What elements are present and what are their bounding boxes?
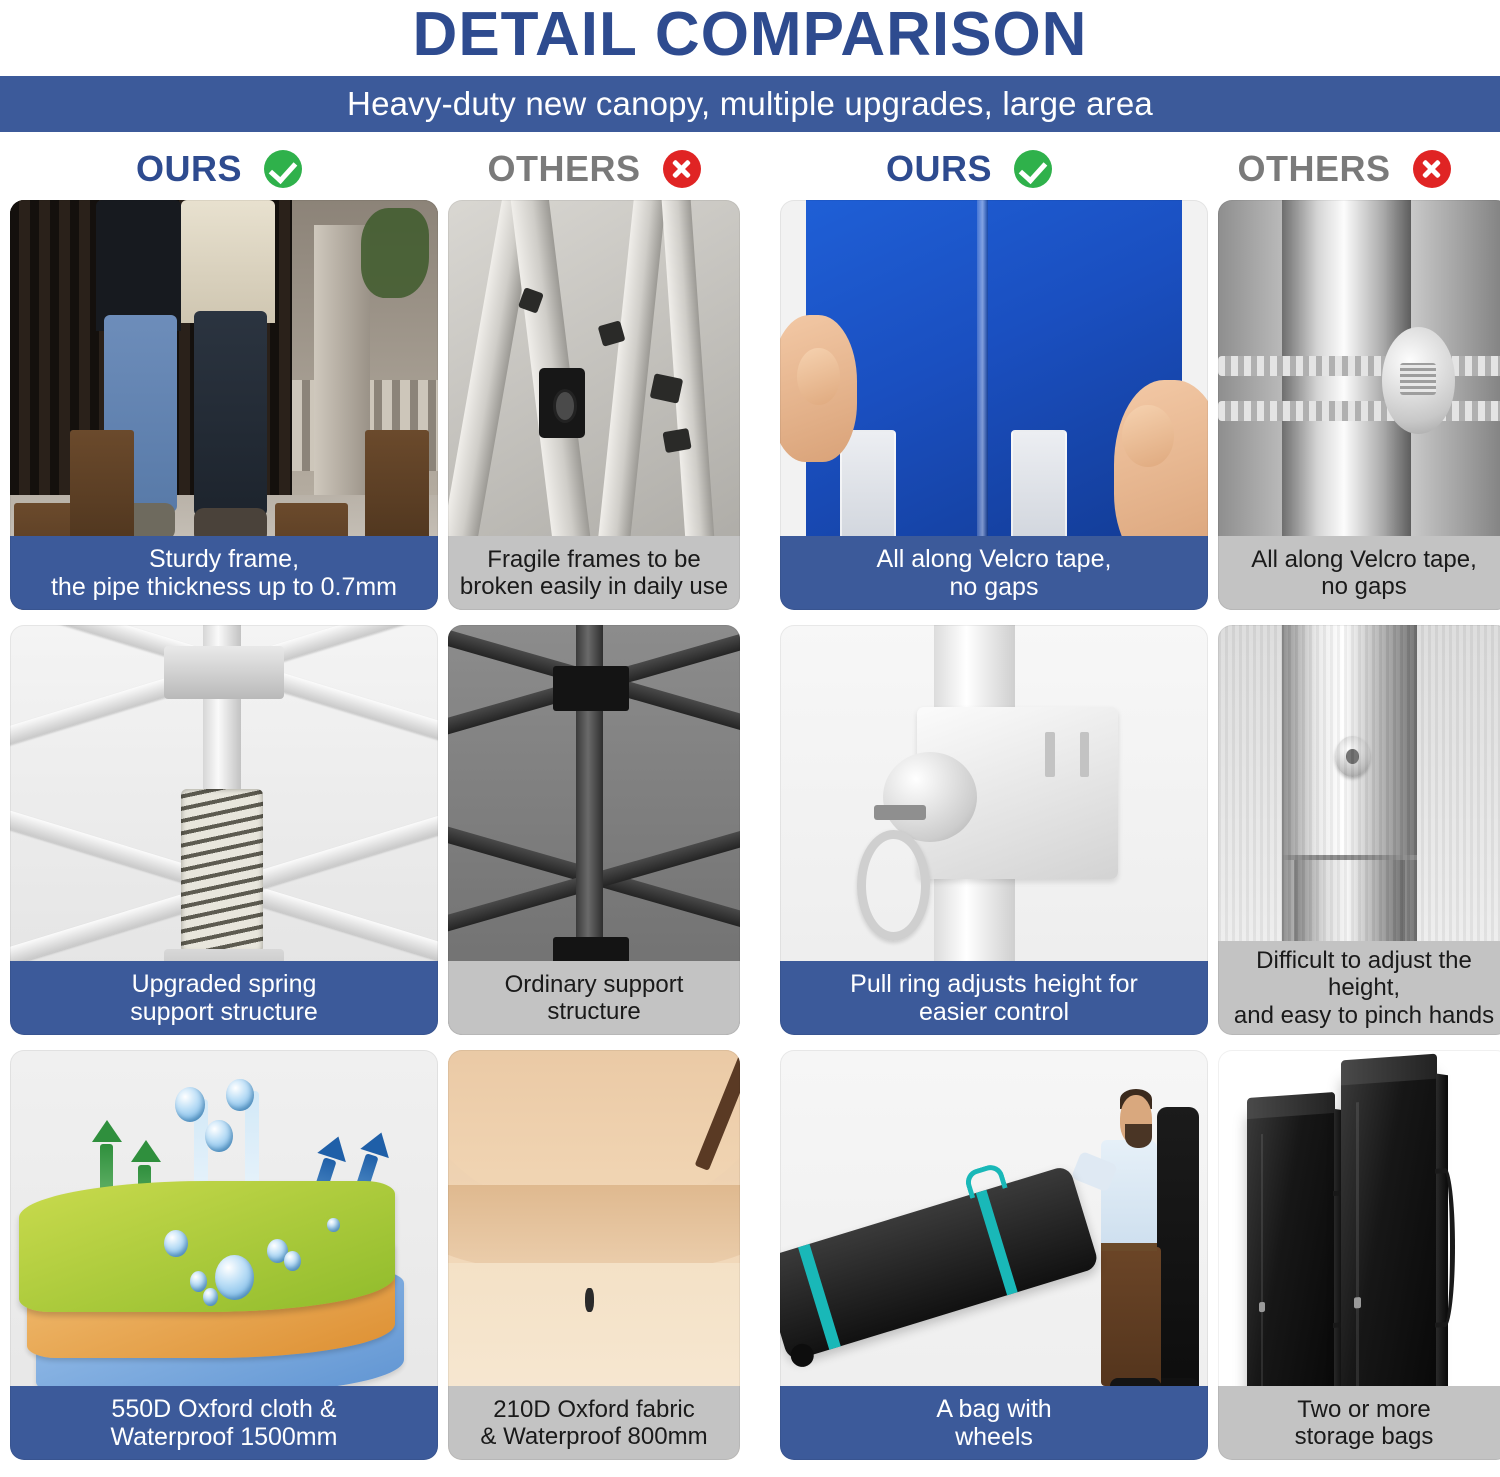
cell-caption-text: 210D Oxford fabric & Waterproof 800mm (480, 1396, 707, 1451)
comparison-grid: Sturdy frame, the pipe thickness up to 0… (0, 200, 1500, 1475)
subtitle-text: Heavy-duty new canopy, multiple upgrades… (347, 85, 1153, 123)
comparison-cell-ordinary-support: Ordinary support structure (448, 625, 740, 1035)
subtitle-banner: Heavy-duty new canopy, multiple upgrades… (0, 76, 1500, 132)
comparison-cell-velcro-ours: All along Velcro tape, no gaps (780, 200, 1208, 610)
cell-caption-text: Fragile frames to be broken easily in da… (460, 546, 728, 601)
column-label-others-1: OTHERS (438, 148, 750, 190)
cross-circle-red-icon (663, 150, 701, 188)
column-label-text: OTHERS (487, 148, 640, 190)
cell-caption-text: 550D Oxford cloth & Waterproof 1500mm (111, 1395, 338, 1452)
cell-caption-text: All along Velcro tape, no gaps (877, 545, 1112, 602)
column-label-text: OURS (886, 148, 992, 190)
comparison-cell-hard-adjust: Difficult to adjust the height, and easy… (1218, 625, 1500, 1035)
page-title: DETAIL COMPARISON (0, 0, 1500, 72)
cell-caption-text: A bag with wheels (936, 1395, 1051, 1452)
comparison-cell-fragile-frame: Fragile frames to be broken easily in da… (448, 200, 740, 610)
cell-caption-text: All along Velcro tape, no gaps (1251, 546, 1476, 601)
cell-caption: Sturdy frame, the pipe thickness up to 0… (10, 536, 438, 610)
cell-caption-text: Ordinary support structure (505, 971, 684, 1026)
cell-caption: 210D Oxford fabric & Waterproof 800mm (448, 1386, 740, 1460)
cell-caption: Two or more storage bags (1218, 1386, 1500, 1460)
cell-caption: 550D Oxford cloth & Waterproof 1500mm (10, 1386, 438, 1460)
cell-caption: All along Velcro tape, no gaps (780, 536, 1208, 610)
column-group-gap (750, 625, 770, 1050)
infographic-page: DETAIL COMPARISON Heavy-duty new canopy,… (0, 0, 1500, 1477)
cell-caption-text: Upgraded spring support structure (130, 970, 318, 1027)
comparison-cell-wheeled-bag: A bag with wheels (780, 1050, 1208, 1460)
cell-caption-text: Two or more storage bags (1295, 1396, 1434, 1451)
comparison-cell-sturdy-frame: Sturdy frame, the pipe thickness up to 0… (10, 200, 438, 610)
comparison-cell-210d-fabric: 210D Oxford fabric & Waterproof 800mm (448, 1050, 740, 1460)
check-circle-green-icon (264, 150, 302, 188)
cell-caption-text: Pull ring adjusts height for easier cont… (850, 970, 1138, 1027)
comparison-cell-storage-bags: Two or more storage bags (1218, 1050, 1500, 1460)
comparison-cell-spring-support: Upgraded spring support structure (10, 625, 438, 1035)
column-label-row: OURS OTHERS OURS OTHERS (0, 138, 1500, 200)
column-label-ours-2: OURS (750, 148, 1188, 190)
cell-caption: Pull ring adjusts height for easier cont… (780, 961, 1208, 1035)
comparison-cell-pull-ring: Pull ring adjusts height for easier cont… (780, 625, 1208, 1035)
column-group-gap (750, 200, 770, 625)
cell-caption: A bag with wheels (780, 1386, 1208, 1460)
column-label-ours-1: OURS (0, 148, 438, 190)
column-label-others-2: OTHERS (1188, 148, 1500, 190)
cell-caption: Ordinary support structure (448, 961, 740, 1035)
cell-caption: All along Velcro tape, no gaps (1218, 536, 1500, 610)
cell-caption-text: Sturdy frame, the pipe thickness up to 0… (51, 545, 397, 602)
check-circle-green-icon (1014, 150, 1052, 188)
comparison-cell-velcro-others: All along Velcro tape, no gaps (1218, 200, 1500, 610)
cell-caption: Upgraded spring support structure (10, 961, 438, 1035)
column-group-gap (750, 1050, 770, 1475)
cell-caption: Difficult to adjust the height, and easy… (1218, 941, 1500, 1035)
cross-circle-red-icon (1413, 150, 1451, 188)
comparison-cell-550d-fabric: 550D Oxford cloth & Waterproof 1500mm (10, 1050, 438, 1460)
cell-caption-text: Difficult to adjust the height, and easy… (1226, 947, 1500, 1029)
cell-caption: Fragile frames to be broken easily in da… (448, 536, 740, 610)
column-label-text: OURS (136, 148, 242, 190)
column-label-text: OTHERS (1237, 148, 1390, 190)
